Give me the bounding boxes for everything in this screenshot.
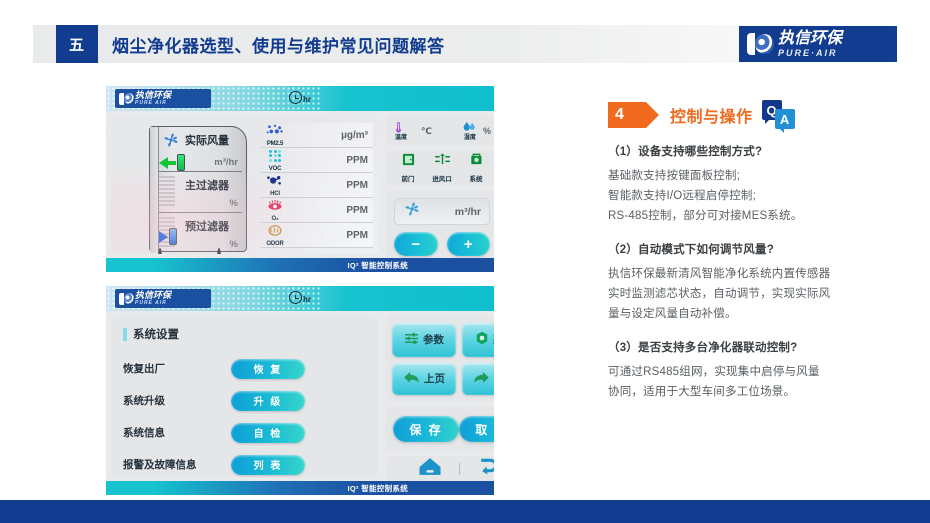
device-airflow-unit: m³/hr (214, 157, 238, 168)
screen-two-body: 系统设置 恢复出厂 恢 复 系统升级 升 级 系统信息 自 检 报警及故障信息 … (106, 311, 494, 481)
home-icon[interactable] (417, 456, 443, 482)
pm25-icon: PM2.5 (262, 123, 288, 147)
status-air-inlet: 进风口 (425, 151, 459, 186)
status-card: 前门 进风口 (385, 151, 494, 186)
setting-row-factory-reset: 恢复出厂 恢 复 (123, 355, 367, 382)
fan-icon (162, 131, 180, 149)
device-airflow-label: 实际风量 (185, 132, 229, 148)
humidity-unit: % (483, 126, 491, 136)
brand-name-en: PURE·AIR (778, 49, 842, 58)
screen-one-body: 实际风量 m³/hr 主过滤器 % 预过滤器 % (106, 111, 494, 258)
screen-two-system-label: IQ² 智能控制系统 (348, 483, 409, 494)
setting-row-system-upgrade: 系统升级 升 级 (123, 387, 367, 414)
humidity-indicator: 湿度 (462, 121, 478, 141)
sensor-readout-list: PM2.5 µg/m³ VOC (261, 123, 373, 248)
sensor-row-o3: O₃ PPM (261, 198, 373, 223)
navigation-card: 参数 系统 (385, 316, 494, 402)
hcl-tag: HCl (262, 191, 288, 197)
air-outlet-indicator (159, 154, 185, 171)
screen-one-logo: 执信环保 PURE AIR (115, 89, 211, 108)
faq-answer-line: 智能款支持I/O远程启停控制; (608, 186, 908, 206)
setting-row-alarm-info: 报警及故障信息 列 表 (123, 451, 367, 478)
voc-unit: PPM (346, 155, 373, 166)
brand-logo: 执信环保 PURE·AIR (739, 26, 897, 62)
previous-page-label: 上页 (424, 371, 445, 386)
faq-answer-line: 量与设定风量自动补偿。 (608, 304, 908, 324)
air-inlet-indicator (159, 228, 177, 245)
pureair-logo-icon (118, 91, 134, 106)
status-air-inlet-label: 进风口 (432, 176, 452, 183)
voc-tag: VOC (262, 166, 288, 172)
section-number-badge: 五 (56, 25, 98, 63)
home-back-card (385, 456, 494, 482)
screen-one-logo-en: PURE AIR (135, 101, 171, 106)
fan-setpoint-unit: m³/hr (455, 206, 481, 218)
caster-wheel (158, 250, 175, 254)
fan-control-card: m³/hr − + (385, 191, 494, 263)
device-diagram-card: 实际风量 m³/hr 主过滤器 % 预过滤器 % (111, 116, 379, 254)
setting-label-alarm-info: 报警及故障信息 (123, 457, 231, 472)
screen-one-logo-cn: 执信环保 (135, 91, 171, 100)
filter-grill-icon (159, 176, 175, 208)
faq-answer-line: 执信环保最新清风智能净化系统内置传感器 (608, 264, 908, 284)
screen-one-bottombar (106, 258, 494, 272)
screen-one-system-label: IQ² 智能控制系统 (348, 260, 409, 271)
sensor-row-hcl: HCl PPM (261, 173, 373, 198)
arrow-left-icon (403, 371, 420, 387)
outlet-port-tab (177, 154, 185, 171)
clock-icon (289, 91, 302, 104)
caster-wheel (217, 250, 234, 254)
status-front-door-label: 前门 (402, 176, 415, 183)
device-pre-filter-unit: % (230, 239, 238, 250)
content-number: 4 (615, 106, 624, 124)
humidity-label: 湿度 (462, 132, 478, 141)
qa-icon: Q A (762, 100, 796, 130)
screen-one-right-column: 温度 ℃ 湿度 % (385, 116, 494, 254)
device-section-main-filter: 主过滤器 % (159, 171, 242, 212)
page-title: 烟尘净化器选型、使用与维护常见问题解答 (112, 25, 445, 63)
previous-page-button[interactable]: 上页 (392, 363, 456, 396)
faq-block-3: （3）是否支持多台净化器联动控制? 可通过RS485组网，实现集中启停与风量 协… (608, 339, 908, 402)
save-button[interactable]: 保 存 (393, 416, 459, 442)
setting-row-system-info: 系统信息 自 检 (123, 419, 367, 446)
faq-answer-line: RS-485控制，部分可对接MES系统。 (608, 206, 908, 226)
factory-reset-button[interactable]: 恢 复 (231, 359, 305, 379)
fan-increase-button[interactable]: + (447, 232, 491, 256)
thermometer-icon: 温度 (393, 121, 409, 141)
screen-two-bottombar (106, 481, 494, 495)
heading-marker (123, 328, 127, 341)
device-main-filter-label: 主过滤器 (185, 177, 229, 193)
o3-icon: O₃ (262, 198, 288, 222)
device-body: 实际风量 m³/hr 主过滤器 % 预过滤器 % (149, 126, 247, 252)
runtime-clock: hr (289, 291, 311, 304)
odor-tag: ODOR (262, 241, 288, 247)
brand-name-cn: 执信环保 (778, 31, 842, 47)
page-footer (0, 500, 930, 523)
fan-setpoint-readout[interactable]: m³/hr (394, 198, 490, 225)
device-screen-main: 执信环保 PURE AIR hr (106, 86, 494, 272)
pureair-logo-icon (745, 30, 775, 58)
clock-icon (289, 291, 302, 304)
o3-unit: PPM (346, 205, 373, 216)
self-check-button[interactable]: 自 检 (231, 423, 305, 443)
pureair-logo-icon (118, 291, 134, 306)
faq-question-3: （3）是否支持多台净化器联动控制? (608, 339, 908, 355)
content-title: 控制与操作 (670, 103, 753, 127)
faq-answer-line: 实时监测滤芯状态，自动调节，实现实际风 (608, 284, 908, 304)
runtime-unit: hr (303, 95, 311, 104)
system-upgrade-button[interactable]: 升 级 (231, 391, 305, 411)
purifier-device-graphic: 实际风量 m³/hr 主过滤器 % 预过滤器 % (149, 126, 247, 254)
screen-two-logo-cn: 执信环保 (135, 291, 171, 300)
save-cancel-card: 保 存 取 消 (385, 407, 494, 451)
alarm-list-button[interactable]: 列 表 (231, 455, 305, 475)
runtime-clock: hr (289, 91, 311, 104)
parameters-label: 参数 (423, 332, 444, 347)
answer-badge: A (775, 109, 795, 129)
content-number-badge: 4 (608, 102, 646, 128)
screen-two-logo-en: PURE AIR (135, 301, 171, 306)
setting-label-factory-reset: 恢复出厂 (123, 361, 231, 376)
humidity-drop-icon: 湿度 (462, 121, 478, 141)
sensor-row-pm25: PM2.5 µg/m³ (261, 123, 373, 148)
hcl-icon: HCl (262, 173, 288, 197)
faq-question-1: （1）设备支持哪些控制方式? (608, 143, 908, 159)
system-button-label: 系统 (493, 332, 495, 347)
door-icon (391, 151, 425, 168)
inlet-port-tab (169, 228, 177, 245)
temperature-indicator: 温度 (393, 121, 409, 141)
status-system-label: 系统 (470, 176, 483, 183)
device-left-rail (150, 127, 159, 253)
environment-card: 温度 ℃ 湿度 % (385, 116, 494, 146)
settings-heading: 系统设置 (123, 326, 367, 342)
setting-label-system-info: 系统信息 (123, 425, 231, 440)
parameters-button[interactable]: 参数 (392, 323, 456, 357)
back-arrow-icon[interactable] (476, 456, 494, 482)
pm25-tag: PM2.5 (262, 141, 288, 147)
device-screen-settings: 执信环保 PURE AIR hr 系统设置 恢复出厂 恢 复 系统升级 升 级 … (106, 286, 494, 495)
filter-grill-icon (159, 217, 175, 249)
setting-label-system-upgrade: 系统升级 (123, 393, 231, 408)
device-section-pre-filter: 预过滤器 % (159, 212, 242, 253)
runtime-unit: hr (303, 295, 311, 304)
fan-decrease-button[interactable]: − (394, 232, 438, 256)
faq-block-1: （1）设备支持哪些控制方式? 基础款支持按键面板控制; 智能款支持I/O远程启停… (608, 143, 908, 226)
device-main-filter-unit: % (230, 198, 238, 209)
page-header: 五 烟尘净化器选型、使用与维护常见问题解答 执信环保 PURE·AIR (0, 25, 930, 63)
screen-two-right-column: 参数 系统 (385, 316, 494, 477)
hcl-unit: PPM (346, 180, 373, 191)
fan-icon (403, 200, 421, 223)
temperature-label: 温度 (393, 132, 409, 141)
faq-content: 4 控制与操作 Q A （1）设备支持哪些控制方式? 基础款支持按键面板控制; … (608, 100, 908, 417)
faq-answer-line: 可通过RS485组网，实现集中启停与风量 (608, 362, 908, 382)
cancel-button[interactable]: 取 消 (459, 416, 494, 442)
hex-gear-icon (475, 331, 489, 348)
sensor-row-voc: VOC PPM (261, 148, 373, 173)
temperature-unit: ℃ (421, 126, 432, 137)
status-front-door: 前门 (391, 151, 425, 186)
sensor-row-odor: ODOR PPM (261, 223, 373, 248)
content-title-row: 4 控制与操作 Q A (608, 100, 908, 130)
divider (459, 463, 461, 475)
voc-icon: VOC (262, 148, 288, 172)
faq-answer-line: 基础款支持按键面板控制; (608, 166, 908, 186)
settings-heading-label: 系统设置 (133, 326, 179, 342)
odor-icon: ODOR (262, 223, 288, 247)
next-page-button[interactable]: 下页 (462, 363, 494, 396)
device-pre-filter-label: 预过滤器 (185, 218, 229, 234)
system-settings-card: 系统设置 恢复出厂 恢 复 系统升级 升 级 系统信息 自 检 报警及故障信息 … (111, 316, 379, 477)
status-system: 系统 (459, 151, 493, 186)
system-icon (459, 151, 493, 168)
arrow-right-icon (473, 371, 490, 387)
faq-question-2: （2）自动模式下如何调节风量? (608, 241, 908, 257)
screen-two-logo: 执信环保 PURE AIR (115, 289, 211, 308)
odor-unit: PPM (346, 230, 373, 241)
arrow-right-icon (159, 231, 168, 243)
sliders-icon (404, 332, 419, 348)
fan-adjust-row: − + (394, 232, 490, 256)
pm25-unit: µg/m³ (341, 130, 373, 141)
faq-block-2: （2）自动模式下如何调节风量? 执信环保最新清风智能净化系统内置传感器 实时监测… (608, 241, 908, 324)
faq-answer-line: 协同，适用于大型车间多工位场景。 (608, 382, 908, 402)
system-button[interactable]: 系统 (462, 323, 494, 357)
air-inlet-icon (425, 151, 459, 168)
o3-tag: O₃ (262, 216, 288, 222)
